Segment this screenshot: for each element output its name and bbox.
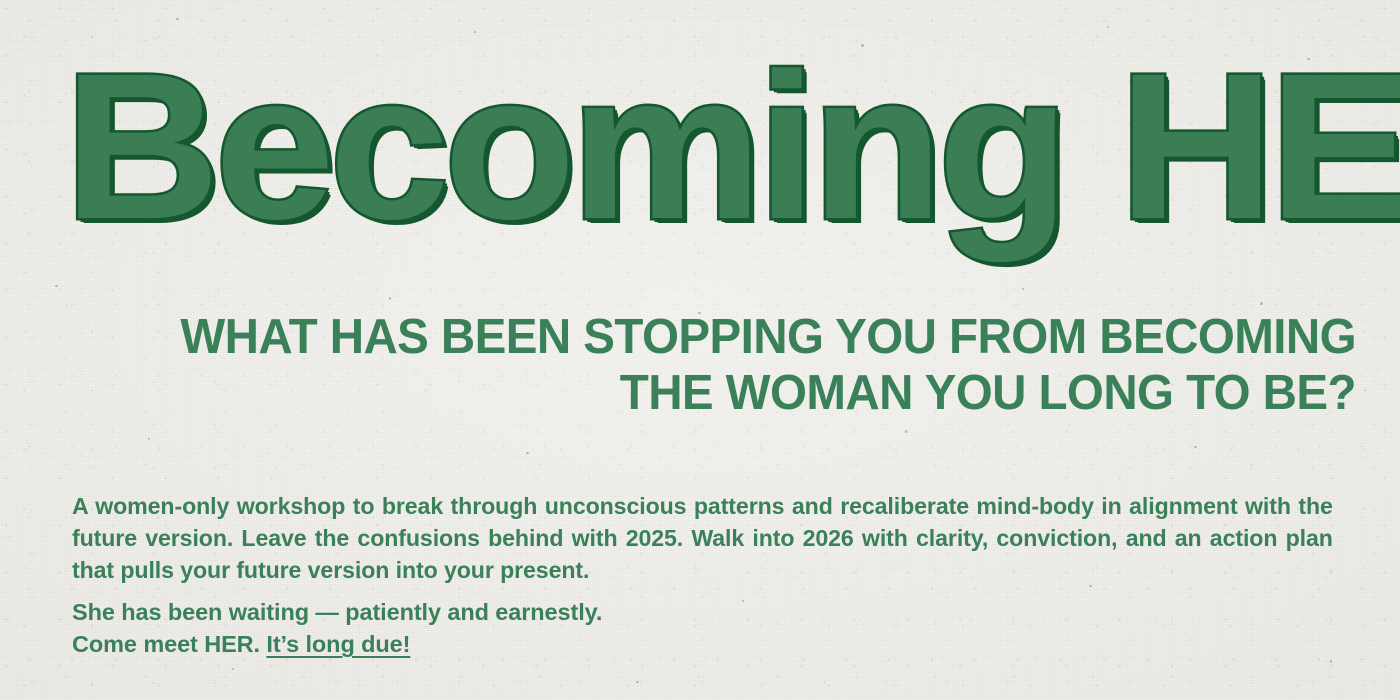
cta-link[interactable]: It’s long due! <box>266 631 410 657</box>
closing-lines: She has been waiting — patiently and ear… <box>72 596 1352 660</box>
closing-line-cta-prefix: Come meet HER. <box>72 631 266 657</box>
headline: Becoming HER <box>64 46 1354 261</box>
closing-line-waiting: She has been waiting — patiently and ear… <box>72 596 1352 628</box>
subheading: WHAT HAS BEEN STOPPING YOU FROM BECOMING… <box>107 310 1356 422</box>
poster-canvas: Becoming HER WHAT HAS BEEN STOPPING YOU … <box>0 0 1400 700</box>
closing-line-cta: Come meet HER. It’s long due! <box>72 628 1352 660</box>
subheading-line-2: THE WOMAN YOU LONG TO BE? <box>107 366 1356 422</box>
poster-content: Becoming HER WHAT HAS BEEN STOPPING YOU … <box>0 0 1400 700</box>
subheading-line-1: WHAT HAS BEEN STOPPING YOU FROM BECOMING <box>107 310 1356 366</box>
body-paragraph: A women-only workshop to break through u… <box>72 490 1333 586</box>
headline-text: Becoming HER <box>64 46 1400 250</box>
closing-line-waiting-text: She has been waiting — patiently and ear… <box>72 599 602 625</box>
